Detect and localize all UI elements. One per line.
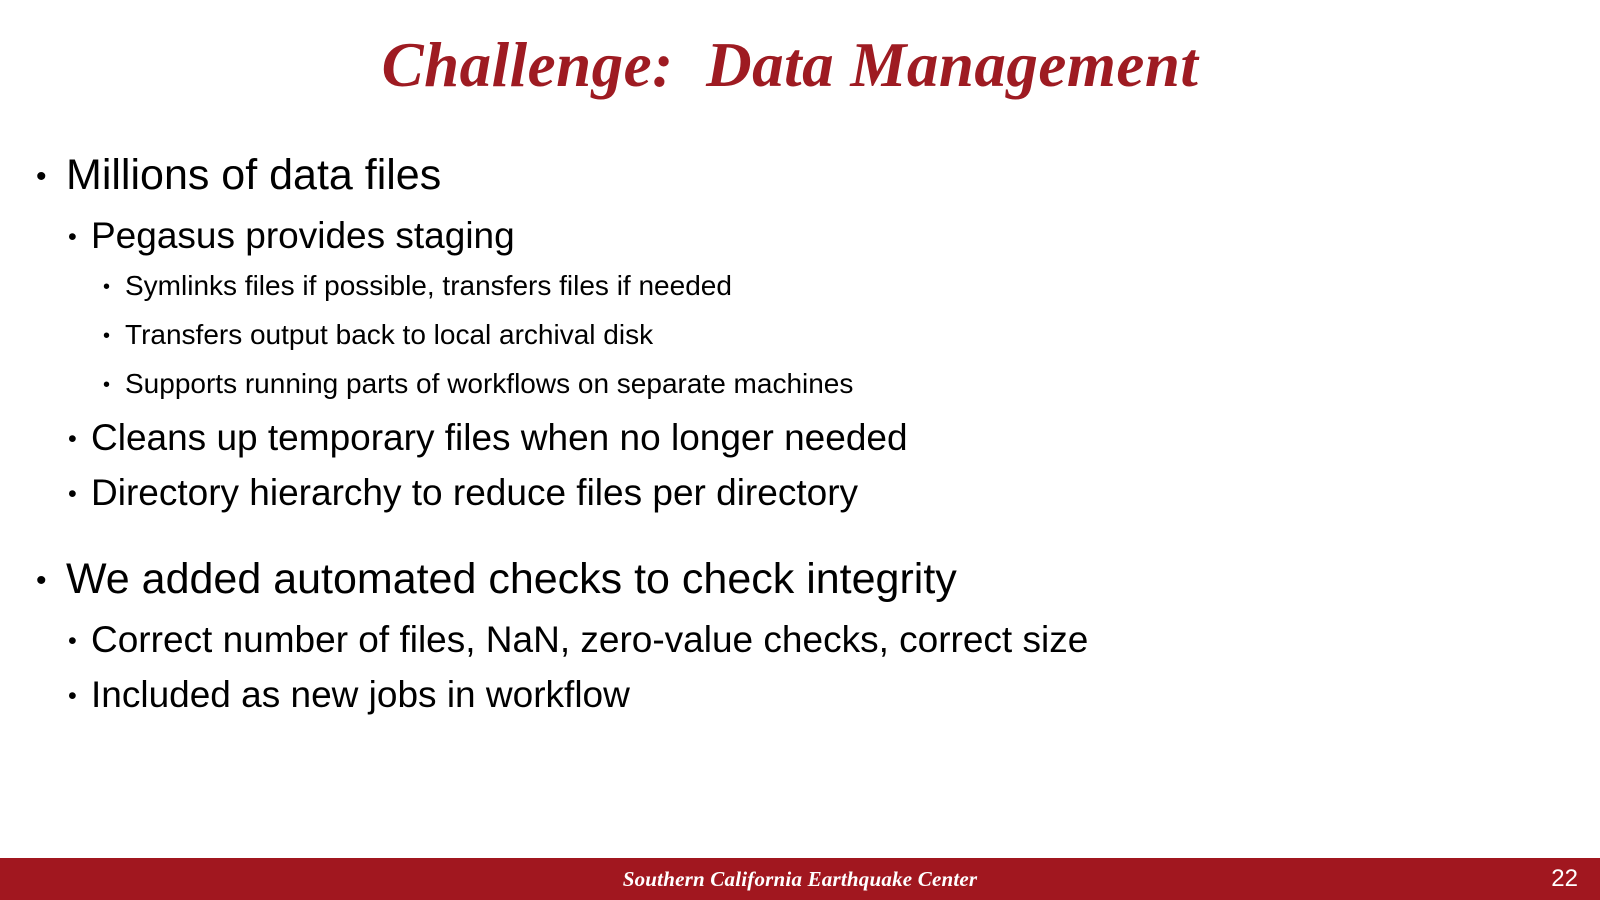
- bullet-icon: •: [103, 277, 125, 297]
- list-item: • Cleans up temporary files when no long…: [68, 414, 1600, 462]
- list-item: • Included as new jobs in workflow: [68, 671, 1600, 719]
- list-item: • We added automated checks to check int…: [36, 552, 1600, 606]
- organization-name: Southern California Earthquake Center: [0, 858, 1600, 900]
- list-item-label: Transfers output back to local archival …: [125, 316, 653, 354]
- list-item-label: Symlinks files if possible, transfers fi…: [125, 267, 732, 305]
- bullet-icon: •: [68, 482, 91, 507]
- page-number: 22: [1551, 858, 1578, 900]
- bullet-icon: •: [103, 375, 125, 395]
- bullet-icon: •: [68, 427, 91, 452]
- page-title: Challenge: Data Management: [0, 28, 1580, 102]
- list-item-label: We added automated checks to check integ…: [66, 552, 957, 606]
- bullet-icon: •: [36, 566, 66, 596]
- group-spacer: [0, 524, 1600, 552]
- bullet-icon: •: [103, 326, 125, 346]
- presentation-slide: Challenge: Data Management • Millions of…: [0, 0, 1600, 900]
- list-item-label: Correct number of files, NaN, zero-value…: [91, 616, 1088, 664]
- list-item-label: Supports running parts of workflows on s…: [125, 365, 853, 403]
- list-item: • Pegasus provides staging: [68, 212, 1600, 260]
- list-item-label: Pegasus provides staging: [91, 212, 515, 260]
- list-item: • Transfers output back to local archiva…: [103, 316, 1600, 354]
- list-item: • Symlinks files if possible, transfers …: [103, 267, 1600, 305]
- bullet-icon: •: [68, 225, 91, 250]
- bullet-icon: •: [36, 162, 66, 192]
- list-item: • Directory hierarchy to reduce files pe…: [68, 469, 1600, 517]
- list-item-label: Directory hierarchy to reduce files per …: [91, 469, 858, 517]
- list-item: • Millions of data files: [36, 148, 1600, 202]
- list-item-label: Cleans up temporary files when no longer…: [91, 414, 908, 462]
- list-item: • Correct number of files, NaN, zero-val…: [68, 616, 1600, 664]
- bullet-icon: •: [68, 684, 91, 709]
- list-item-label: Included as new jobs in workflow: [91, 671, 630, 719]
- bullet-icon: •: [68, 629, 91, 654]
- slide-footer: Southern California Earthquake Center 22: [0, 858, 1600, 900]
- slide-body: • Millions of data files • Pegasus provi…: [0, 148, 1600, 848]
- list-item: • Supports running parts of workflows on…: [103, 365, 1600, 403]
- list-item-label: Millions of data files: [66, 148, 441, 202]
